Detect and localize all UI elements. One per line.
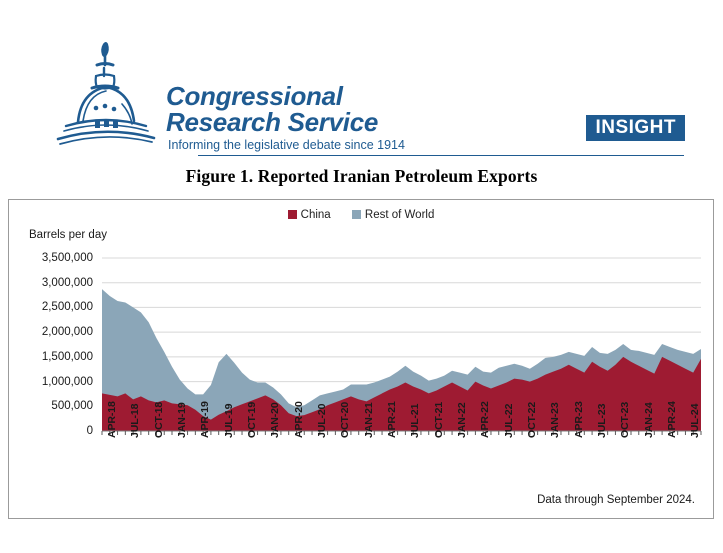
- x-tick-OCT-19: OCT-19: [246, 402, 258, 438]
- crs-logo: Congressional Research Service Informing…: [52, 38, 403, 148]
- y-tick-1500000: 1,500,000: [13, 351, 93, 363]
- y-tick-2000000: 2,000,000: [13, 326, 93, 338]
- capitol-dome-icon: [52, 38, 160, 148]
- x-tick-OCT-18: OCT-18: [153, 402, 165, 438]
- y-tick-3000000: 3,000,000: [13, 277, 93, 289]
- x-tick-JUL-18: JUL-18: [129, 404, 141, 438]
- figure-title: Figure 1. Reported Iranian Petroleum Exp…: [0, 166, 723, 187]
- data-note: Data through September 2024.: [537, 494, 695, 506]
- org-line-2: Research Service: [166, 109, 403, 135]
- x-tick-JAN-24: JAN-24: [643, 402, 655, 438]
- x-tick-JUL-23: JUL-23: [596, 404, 608, 438]
- x-tick-APR-19: APR-19: [199, 401, 211, 438]
- x-tick-APR-23: APR-23: [573, 401, 585, 438]
- x-tick-JUL-24: JUL-24: [689, 404, 701, 438]
- org-tagline: Informing the legislative debate since 1…: [168, 138, 405, 152]
- x-tick-JUL-21: JUL-21: [409, 404, 421, 438]
- masthead: Congressional Research Service Informing…: [0, 0, 723, 140]
- tagline-rule: [198, 155, 684, 156]
- org-line-1: Congressional: [166, 83, 403, 109]
- y-tick-1000000: 1,000,000: [13, 376, 93, 388]
- x-tick-APR-20: APR-20: [293, 401, 305, 438]
- crs-wordmark: Congressional Research Service Informing…: [166, 83, 403, 152]
- x-tick-JAN-21: JAN-21: [363, 402, 375, 438]
- stacked-area-plot: [9, 200, 715, 520]
- y-tick-3500000: 3,500,000: [13, 252, 93, 264]
- x-tick-OCT-22: OCT-22: [526, 402, 538, 438]
- x-tick-APR-22: APR-22: [479, 401, 491, 438]
- plot-area: 0500,0001,000,0001,500,0002,000,0002,500…: [9, 200, 715, 520]
- x-tick-JUL-20: JUL-20: [316, 404, 328, 438]
- x-tick-JUL-22: JUL-22: [503, 404, 515, 438]
- x-tick-JUL-19: JUL-19: [223, 404, 235, 438]
- x-tick-JAN-23: JAN-23: [549, 402, 561, 438]
- x-tick-JAN-22: JAN-22: [456, 402, 468, 438]
- x-tick-APR-21: APR-21: [386, 401, 398, 438]
- x-tick-JAN-19: JAN-19: [176, 402, 188, 438]
- y-tick-0: 0: [13, 425, 93, 437]
- x-tick-OCT-20: OCT-20: [339, 402, 351, 438]
- y-tick-2500000: 2,500,000: [13, 301, 93, 313]
- x-tick-APR-24: APR-24: [666, 401, 678, 438]
- insight-badge: INSIGHT: [586, 115, 685, 141]
- y-tick-500000: 500,000: [13, 400, 93, 412]
- x-tick-APR-18: APR-18: [106, 401, 118, 438]
- x-tick-JAN-20: JAN-20: [269, 402, 281, 438]
- x-tick-OCT-23: OCT-23: [619, 402, 631, 438]
- chart-figure: China Rest of World Barrels per day 0500…: [8, 199, 714, 519]
- x-tick-OCT-21: OCT-21: [433, 402, 445, 438]
